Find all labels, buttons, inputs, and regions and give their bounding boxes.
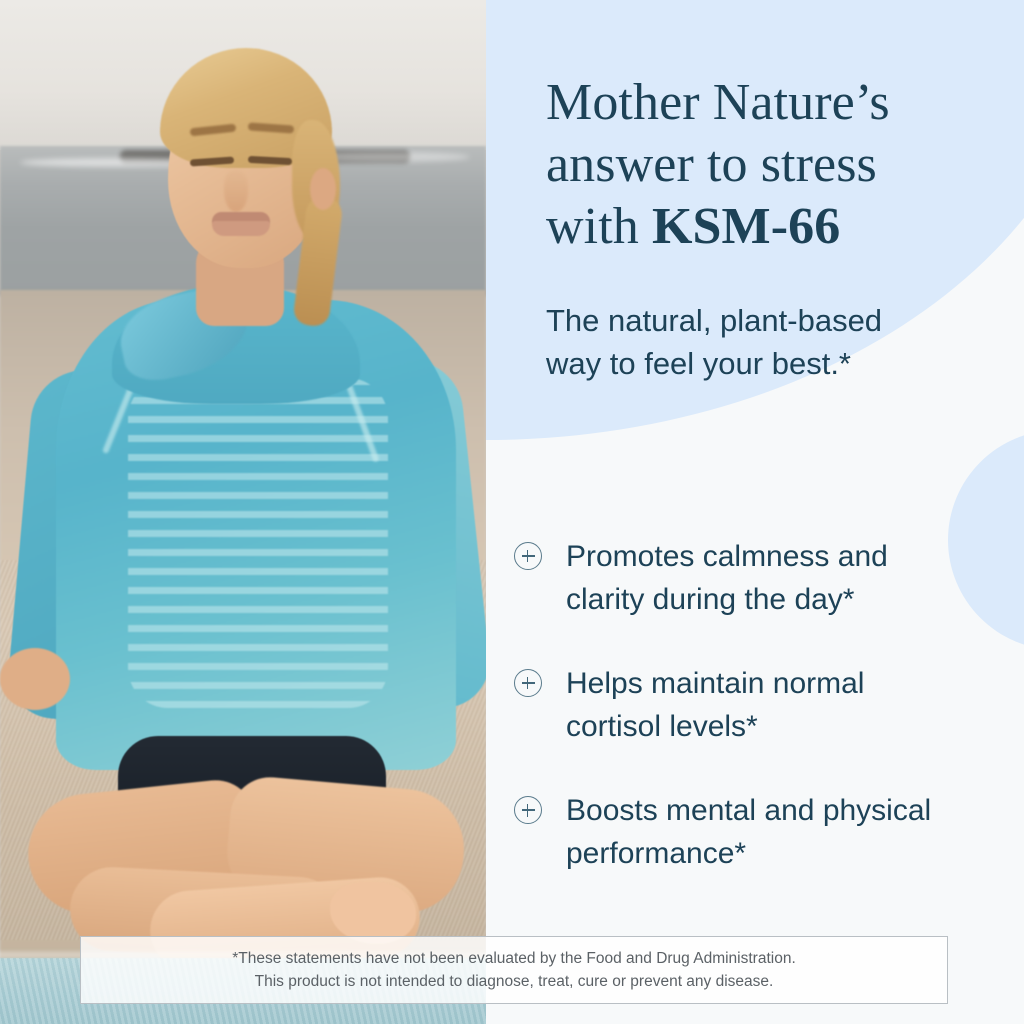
subheading-line-1: The natural, plant-based (546, 303, 882, 338)
disclaimer-line-1: *These statements have not been evaluate… (232, 947, 796, 970)
plus-circle-icon (514, 542, 542, 570)
list-item: Helps maintain normal cortisol levels* (514, 663, 984, 748)
fda-disclaimer: *These statements have not been evaluate… (80, 936, 948, 1004)
list-item: Boosts mental and physical performance* (514, 790, 984, 875)
headline-line-1: Mother Nature’s (546, 74, 890, 131)
subheading: The natural, plant-based way to feel you… (546, 300, 966, 386)
left-hand (0, 648, 70, 710)
shirt-stripes (128, 378, 388, 708)
page-title: Mother Nature’s answer to stress with KS… (546, 72, 1006, 258)
benefit-text: Boosts mental and physical performance* (566, 790, 966, 875)
benefit-text: Promotes calmness and clarity during the… (566, 536, 966, 621)
headline-line-2: answer to stress (546, 136, 877, 193)
hero-photo (0, 0, 486, 1024)
disclaimer-line-2: This product is not intended to diagnose… (255, 970, 774, 993)
subheading-line-2: way to feel your best.* (546, 346, 851, 381)
nose (224, 170, 248, 212)
plus-circle-icon (514, 669, 542, 697)
headline-product-name: KSM-66 (652, 198, 840, 255)
lower-lip (212, 221, 270, 236)
list-item: Promotes calmness and clarity during the… (514, 536, 984, 621)
content-panel: Mother Nature’s answer to stress with KS… (486, 0, 1024, 1024)
plus-circle-icon (514, 796, 542, 824)
benefit-text: Helps maintain normal cortisol levels* (566, 663, 966, 748)
headline-line-3-prefix: with (546, 198, 652, 255)
infographic-canvas: Mother Nature’s answer to stress with KS… (0, 0, 1024, 1024)
benefits-list: Promotes calmness and clarity during the… (514, 536, 984, 876)
ear (310, 168, 336, 210)
